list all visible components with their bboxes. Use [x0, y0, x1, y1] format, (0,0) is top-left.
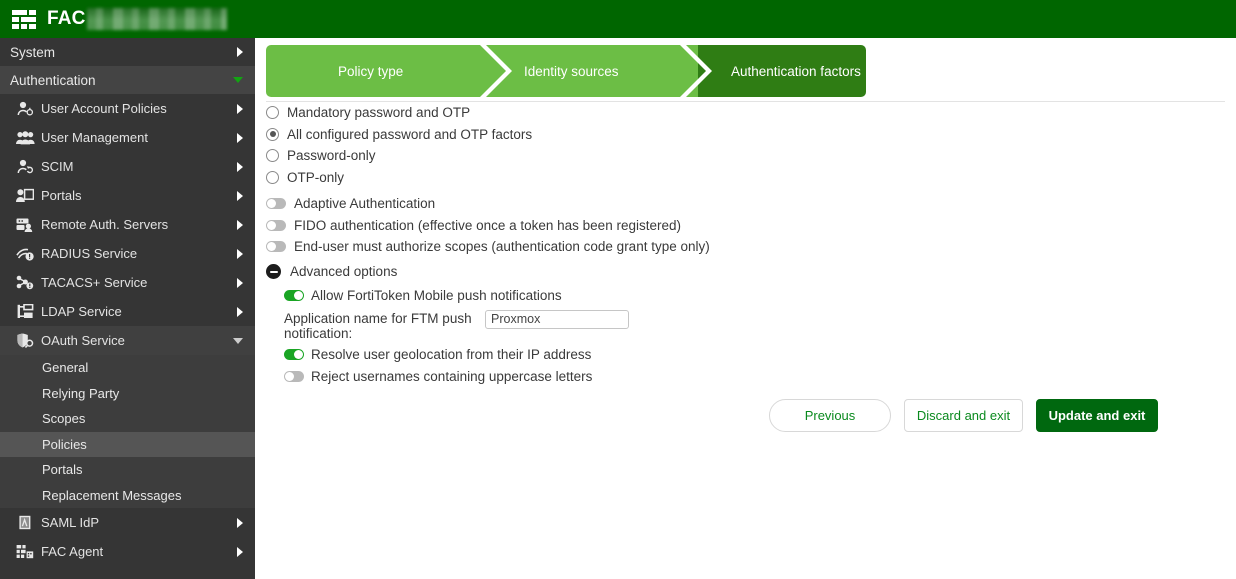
sidebar-item-saml-idp[interactable]: SAML IdP [0, 508, 255, 537]
saml-doc-icon [14, 515, 36, 531]
toggle-switch-icon[interactable] [266, 198, 286, 209]
portal-icon [14, 188, 36, 204]
sidebar-item-system[interactable]: System [0, 38, 255, 66]
sidebar-item-label: TACACS+ Service [41, 275, 237, 290]
sidebar-item-label: User Account Policies [41, 101, 237, 116]
advanced-options-header[interactable]: Advanced options [266, 260, 1216, 284]
wizard-step-label: Authentication factors [731, 64, 861, 79]
toggle-switch-icon[interactable] [284, 290, 304, 301]
radio-icon[interactable] [266, 171, 279, 184]
radio-option-label: Password-only [287, 148, 376, 163]
tacacs-icon [14, 275, 36, 291]
toggle-reject-uppercase-usernames[interactable]: Reject usernames containing uppercase le… [284, 366, 1216, 388]
radius-icon [14, 246, 36, 262]
sidebar-item-label: OAuth Service [41, 333, 233, 348]
toggle-label: Adaptive Authentication [294, 196, 435, 211]
chevron-right-icon [237, 278, 243, 288]
sidebar-subitem-portals[interactable]: Portals [0, 457, 255, 483]
sidebar-item-remote-auth-servers[interactable]: Remote Auth. Servers [0, 210, 255, 239]
toggle-label: Reject usernames containing uppercase le… [311, 369, 592, 384]
sidebar-item-radius-service[interactable]: RADIUS Service [0, 239, 255, 268]
app-header: FAC [0, 0, 1236, 38]
chevron-down-icon [233, 77, 243, 83]
chevron-down-icon [233, 338, 243, 344]
server-user-icon [14, 217, 36, 233]
sidebar-item-user-management[interactable]: User Management [0, 123, 255, 152]
toggle-switch-icon[interactable] [266, 241, 286, 252]
wizard-step-authentication-factors[interactable]: Authentication factors [698, 45, 866, 97]
chevron-right-icon [237, 133, 243, 143]
sidebar-item-label: SAML IdP [41, 515, 237, 530]
sidebar-subitem-general[interactable]: General [0, 355, 255, 381]
sidebar-item-label: FAC Agent [41, 544, 237, 559]
sidebar-item-label: LDAP Service [41, 304, 237, 319]
fac-agent-icon [14, 544, 36, 560]
sidebar-item-label: SCIM [41, 159, 237, 174]
toggle-label: Resolve user geolocation from their IP a… [311, 347, 591, 362]
radio-option-label: All configured password and OTP factors [287, 127, 532, 142]
radio-icon[interactable] [266, 106, 279, 119]
sidebar-item-label: Portals [41, 188, 237, 203]
advanced-options-body: Allow FortiToken Mobile push notificatio… [284, 285, 1216, 388]
ftm-app-name-field-row: Application name for FTM push notificati… [284, 310, 1216, 341]
sidebar-item-tacacs-service[interactable]: TACACS+ Service [0, 268, 255, 297]
chevron-right-icon [237, 162, 243, 172]
toggle-switch-icon[interactable] [284, 371, 304, 382]
sidebar-subitem-scopes[interactable]: Scopes [0, 406, 255, 432]
sidebar-item-ldap-service[interactable]: LDAP Service [0, 297, 255, 326]
wizard-step-policy-type[interactable]: Policy type [266, 45, 498, 97]
radio-option-otp-only[interactable]: OTP-only [266, 167, 1216, 189]
chevron-right-icon [237, 249, 243, 259]
sidebar-subitem-relying-party[interactable]: Relying Party [0, 381, 255, 407]
radio-option-all-configured-factors[interactable]: All configured password and OTP factors [266, 124, 1216, 146]
sidebar-item-label: Remote Auth. Servers [41, 217, 237, 232]
update-and-exit-button[interactable]: Update and exit [1036, 399, 1158, 432]
wizard-steps: Policy type Identity sources Authenticat… [266, 45, 866, 97]
toggle-switch-icon[interactable] [266, 220, 286, 231]
toggle-label: FIDO authentication (effective once a to… [294, 218, 681, 233]
chevron-right-icon [237, 191, 243, 201]
toggle-label: Allow FortiToken Mobile push notificatio… [311, 288, 562, 303]
toggle-switch-icon[interactable] [284, 349, 304, 360]
ldap-tree-icon [14, 304, 36, 320]
radio-icon[interactable] [266, 149, 279, 162]
chevron-right-icon [237, 307, 243, 317]
minus-circle-icon[interactable] [266, 264, 281, 279]
advanced-options-label: Advanced options [290, 264, 397, 279]
sidebar[interactable]: System Authentication User Account Polic… [0, 38, 255, 579]
toggle-fido-authentication[interactable]: FIDO authentication (effective once a to… [266, 215, 1216, 237]
chevron-right-icon [237, 47, 243, 57]
ftm-app-name-label: Application name for FTM push notificati… [284, 310, 485, 341]
sidebar-item-label: Authentication [10, 73, 233, 88]
previous-button[interactable]: Previous [769, 399, 891, 432]
radio-option-mandatory-password-otp[interactable]: Mandatory password and OTP [266, 102, 1216, 124]
user-settings-icon [14, 101, 36, 117]
discard-and-exit-button[interactable]: Discard and exit [904, 399, 1023, 432]
radio-icon[interactable] [266, 128, 279, 141]
brand-title: FAC [47, 8, 86, 30]
grid-logo-icon[interactable] [12, 10, 36, 29]
radio-option-label: OTP-only [287, 170, 344, 185]
oauth-shield-icon [14, 333, 36, 349]
toggle-resolve-user-geolocation[interactable]: Resolve user geolocation from their IP a… [284, 344, 1216, 366]
users-icon [14, 130, 36, 146]
sidebar-subitem-replacement-messages[interactable]: Replacement Messages [0, 483, 255, 509]
sidebar-item-label: RADIUS Service [41, 246, 237, 261]
radio-option-password-only[interactable]: Password-only [266, 145, 1216, 167]
sidebar-item-label: System [10, 45, 237, 60]
sidebar-item-oauth-service[interactable]: OAuth Service [0, 326, 255, 355]
toggle-label: End-user must authorize scopes (authenti… [294, 239, 710, 254]
toggle-end-user-authorize-scopes[interactable]: End-user must authorize scopes (authenti… [266, 236, 1216, 258]
sidebar-item-fac-agent[interactable]: FAC Agent [0, 537, 255, 566]
sidebar-item-portals[interactable]: Portals [0, 181, 255, 210]
chevron-right-icon [237, 104, 243, 114]
toggle-allow-ftm-push-notifications[interactable]: Allow FortiToken Mobile push notificatio… [284, 285, 1216, 307]
toggle-adaptive-authentication[interactable]: Adaptive Authentication [266, 193, 1216, 215]
radio-option-label: Mandatory password and OTP [287, 105, 470, 120]
main-content: Policy type Identity sources Authenticat… [255, 38, 1236, 579]
wizard-step-label: Policy type [338, 64, 403, 79]
sidebar-item-user-account-policies[interactable]: User Account Policies [0, 94, 255, 123]
sidebar-item-label: User Management [41, 130, 237, 145]
redacted-hostname [87, 8, 227, 30]
sidebar-item-authentication[interactable]: Authentication [0, 66, 255, 94]
chevron-right-icon [237, 518, 243, 528]
auth-factors-form: Mandatory password and OTP All configure… [266, 102, 1216, 388]
sidebar-subitem-policies[interactable]: Policies [0, 432, 255, 458]
sidebar-item-scim[interactable]: SCIM [0, 152, 255, 181]
wizard-step-identity-sources[interactable]: Identity sources [498, 45, 698, 97]
user-sync-icon [14, 159, 36, 175]
oauth-submenu: General Relying Party Scopes Policies Po… [0, 355, 255, 508]
chevron-right-icon [237, 547, 243, 557]
wizard-step-label: Identity sources [524, 64, 619, 79]
ftm-app-name-input[interactable] [485, 310, 629, 329]
form-action-buttons: Previous Discard and exit Update and exi… [769, 399, 1158, 432]
chevron-right-icon [237, 220, 243, 230]
